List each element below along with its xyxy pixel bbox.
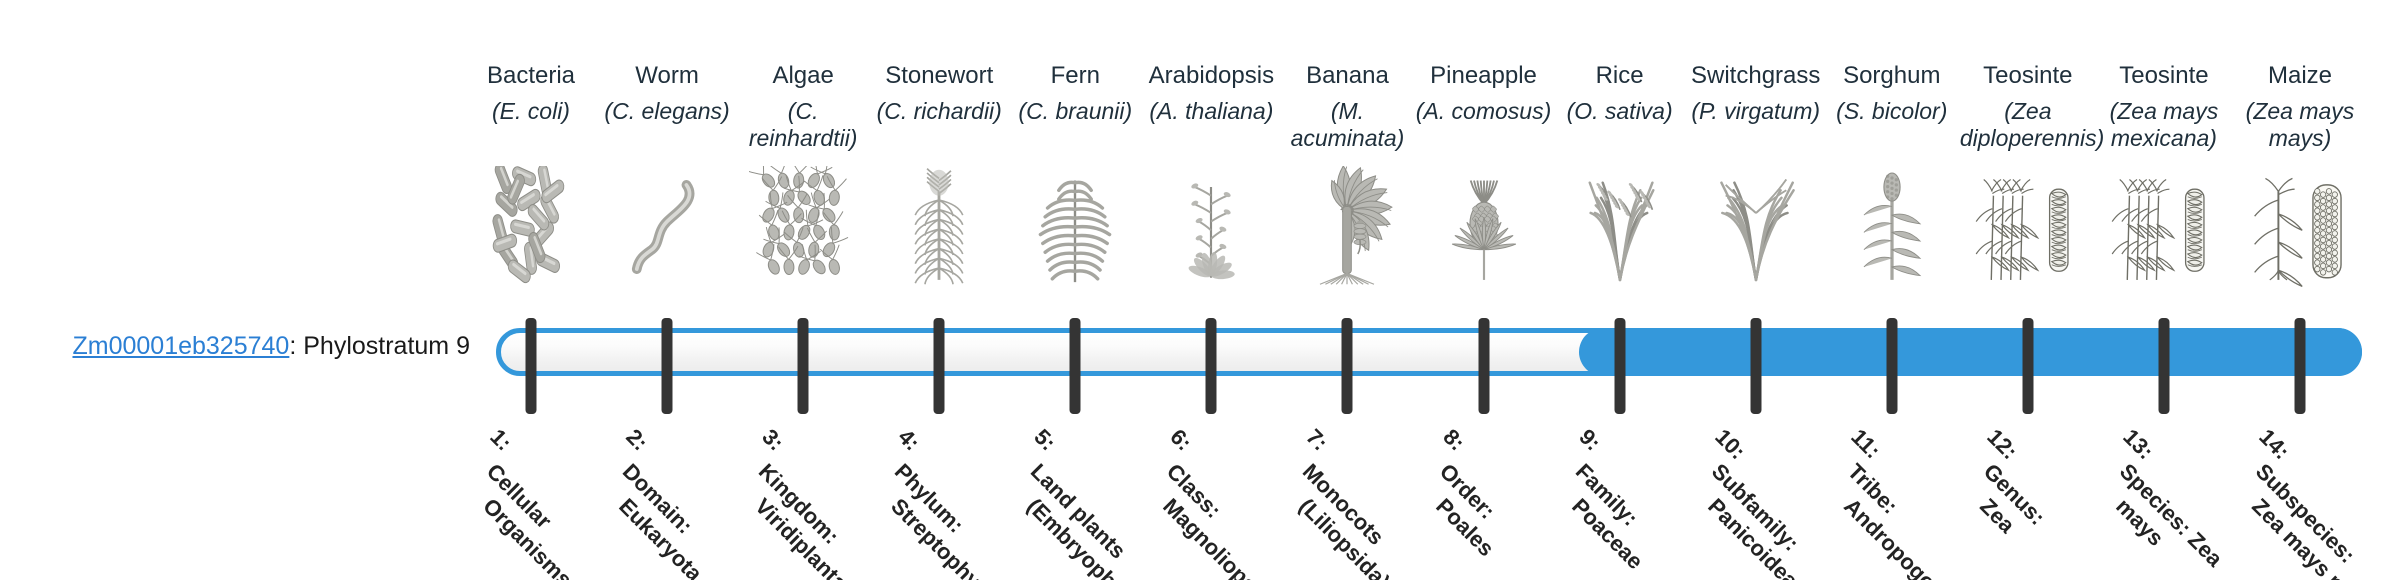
tick-mark-4 xyxy=(934,318,945,414)
tick-mark-13 xyxy=(2158,318,2169,414)
species-column-5: Fern(C. braunii) xyxy=(1007,0,1143,300)
stonewort-icon xyxy=(885,166,993,288)
species-common-name: Maize xyxy=(2232,62,2368,90)
species-scientific-name: (C. elegans) xyxy=(599,98,735,125)
pineapple-icon xyxy=(1430,166,1538,288)
fern-icon xyxy=(1021,166,1129,288)
species-common-name: Algae xyxy=(735,62,871,90)
teosinte-icon xyxy=(2110,166,2218,288)
algae-icon xyxy=(749,166,857,288)
species-common-name: Stonewort xyxy=(871,62,1007,90)
species-common-name: Rice xyxy=(1552,62,1688,90)
species-column-12: Teosinte(Zea diploperennis) xyxy=(1960,0,2096,300)
teosinte-icon xyxy=(1974,166,2082,288)
species-column-9: Rice(O. sativa) xyxy=(1552,0,1688,300)
species-common-name: Switchgrass xyxy=(1688,62,1824,90)
species-scientific-name: (C. richardii) xyxy=(871,98,1007,125)
tick-mark-11 xyxy=(1886,318,1897,414)
species-column-3: Algae(C. reinhardtii) xyxy=(735,0,871,300)
banana-plant-icon xyxy=(1293,166,1401,288)
rice-plant-icon xyxy=(1566,166,1674,288)
gene-id-link[interactable]: Zm00001eb325740 xyxy=(72,332,289,360)
species-column-1: Bacteria(E. coli) xyxy=(463,0,599,300)
species-scientific-name: (M. acuminata) xyxy=(1279,98,1415,152)
tick-mark-1 xyxy=(526,318,537,414)
tick-mark-7 xyxy=(1342,318,1353,414)
bacteria-icon xyxy=(477,166,585,288)
species-common-name: Teosinte xyxy=(1960,62,2096,90)
species-common-name: Fern xyxy=(1007,62,1143,90)
phylostratum-progress-bar xyxy=(496,328,2362,376)
tick-mark-8 xyxy=(1478,318,1489,414)
species-common-name: Banana xyxy=(1279,62,1415,90)
phylostratum-figure: Zm00001eb325740: Phylostratum 9 Bacteria… xyxy=(0,0,2400,580)
gene-phylostratum-value: Phylostratum 9 xyxy=(303,332,470,360)
tick-mark-14 xyxy=(2295,318,2306,414)
species-column-10: Switchgrass(P. virgatum) xyxy=(1688,0,1824,300)
tick-mark-2 xyxy=(662,318,673,414)
species-scientific-name: (A. comosus) xyxy=(1416,98,1552,125)
tick-mark-6 xyxy=(1206,318,1217,414)
species-common-name: Teosinte xyxy=(2096,62,2232,90)
species-column-11: Sorghum(S. bicolor) xyxy=(1824,0,1960,300)
species-scientific-name: (S. bicolor) xyxy=(1824,98,1960,125)
species-scientific-name: (Zea diploperennis) xyxy=(1960,98,2096,152)
species-column-2: Worm(C. elegans) xyxy=(599,0,735,300)
species-scientific-name: (A. thaliana) xyxy=(1143,98,1279,125)
species-scientific-name: (P. virgatum) xyxy=(1688,98,1824,125)
switchgrass-icon xyxy=(1702,166,1810,288)
tick-mark-10 xyxy=(1750,318,1761,414)
progress-fill xyxy=(1579,328,2362,376)
species-column-6: Arabidopsis(A. thaliana) xyxy=(1143,0,1279,300)
species-common-name: Pineapple xyxy=(1416,62,1552,90)
tick-mark-5 xyxy=(1070,318,1081,414)
species-column-14: Maize(Zea mays mays) xyxy=(2232,0,2368,300)
species-scientific-name: (C. reinhardtii) xyxy=(735,98,871,152)
gene-phylostratum-label: Zm00001eb325740: Phylostratum 9 xyxy=(40,331,470,361)
arabidopsis-icon xyxy=(1157,166,1265,288)
maize-icon xyxy=(2246,166,2354,288)
species-common-name: Arabidopsis xyxy=(1143,62,1279,90)
tick-mark-3 xyxy=(798,318,809,414)
species-common-name: Worm xyxy=(599,62,735,90)
species-common-name: Bacteria xyxy=(463,62,599,90)
species-column-4: Stonewort(C. richardii) xyxy=(871,0,1007,300)
species-column-13: Teosinte(Zea mays mexicana) xyxy=(2096,0,2232,300)
gene-label-separator: : xyxy=(289,332,303,360)
tick-mark-9 xyxy=(1614,318,1625,414)
species-scientific-name: (C. braunii) xyxy=(1007,98,1143,125)
species-scientific-name: (E. coli) xyxy=(463,98,599,125)
sorghum-icon xyxy=(1838,166,1946,288)
nematode-worm-icon xyxy=(613,166,721,288)
species-common-name: Sorghum xyxy=(1824,62,1960,90)
species-column-8: Pineapple(A. comosus) xyxy=(1416,0,1552,300)
species-scientific-name: (O. sativa) xyxy=(1552,98,1688,125)
species-scientific-name: (Zea mays mexicana) xyxy=(2096,98,2232,152)
tick-mark-12 xyxy=(2022,318,2033,414)
species-column-7: Banana(M. acuminata) xyxy=(1279,0,1415,300)
species-scientific-name: (Zea mays mays) xyxy=(2232,98,2368,152)
